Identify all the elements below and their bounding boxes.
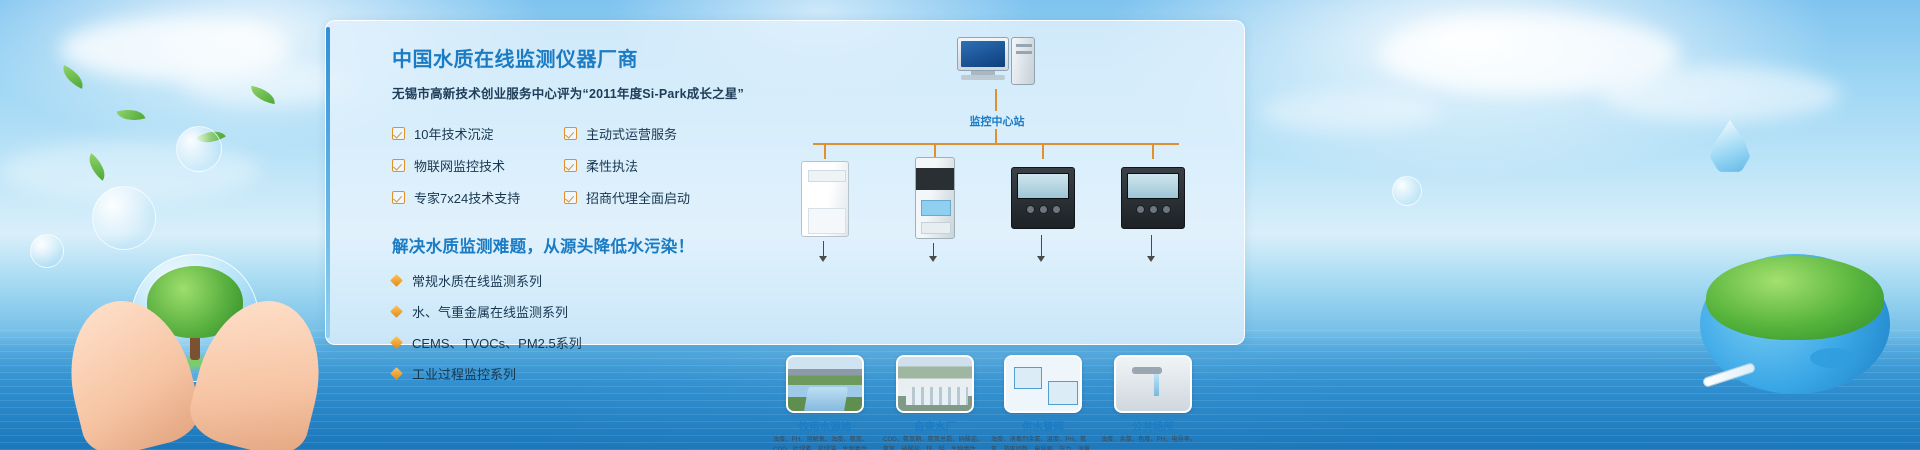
water-droplet-icon xyxy=(1710,120,1750,174)
checkbox-icon xyxy=(564,191,577,204)
leaf-icon xyxy=(117,105,146,125)
node-title: 供水管网 xyxy=(989,419,1097,434)
controller-device-icon xyxy=(1011,167,1075,229)
node-title: 自来水厂 xyxy=(881,419,989,434)
connector-line xyxy=(995,89,997,111)
hero-text-column: 中国水质在线监测仪器厂商 无锡市高新技术创业服务中心评为“2011年度Si-Pa… xyxy=(392,43,782,383)
feature-label: 招商代理全面启动 xyxy=(586,188,690,207)
arrow-icon xyxy=(929,256,937,262)
device-keypad xyxy=(1017,205,1069,214)
node-description: 浊度、余氯、色度、PH、电导率。 xyxy=(1101,435,1205,445)
feature-item: 物联网监控技术 xyxy=(392,156,564,175)
connector-line xyxy=(824,143,826,159)
checkbox-icon xyxy=(564,127,577,140)
list-item[interactable]: 常规水质在线监测系列 xyxy=(392,271,782,290)
earth-land xyxy=(1706,256,1884,340)
page-subtitle: 无锡市高新技术创业服务中心评为“2011年度Si-Park成长之星” xyxy=(392,83,782,102)
device-key xyxy=(1136,205,1145,214)
feature-item: 柔性执法 xyxy=(564,156,782,175)
arrow-line xyxy=(1041,235,1043,257)
bubble xyxy=(1392,176,1422,206)
feature-label: 专家7x24技术支持 xyxy=(414,188,520,207)
monitoring-topology-diagram: 监控中心站 饮用水源地 浊度、PH、溶解氧、浊度、氨氮、COD、叶绿素、蓝绿藻、… xyxy=(771,31,1231,343)
monitor-icon xyxy=(957,37,1009,71)
list-item[interactable]: 工业过程监控系列 xyxy=(392,364,782,383)
feature-item: 主动式运营服务 xyxy=(564,124,782,143)
feature-item: 10年技术沉淀 xyxy=(392,124,564,143)
feature-list: 10年技术沉淀 主动式运营服务 物联网监控技术 柔性执法 专家7x24技术支持 … xyxy=(392,124,782,207)
feature-label: 10年技术沉淀 xyxy=(414,124,493,143)
scene-thumbnail-waterworks xyxy=(896,355,974,413)
control-center-computer-icon xyxy=(957,37,1035,85)
list-item[interactable]: 水、气重金属在线监测系列 xyxy=(392,302,782,321)
feature-label: 主动式运营服务 xyxy=(586,124,677,143)
cabinet-window xyxy=(921,200,951,216)
checkbox-icon xyxy=(392,191,405,204)
scene-thumbnail-river xyxy=(786,355,864,413)
controller-device-icon xyxy=(1121,167,1185,229)
analyzer-cabinet-icon xyxy=(915,157,955,239)
page-title: 中国水质在线监测仪器厂商 xyxy=(392,43,782,72)
node-title: 公共场所 xyxy=(1099,419,1207,434)
node-description: 浊度、消毒剂余氯、温度、PH、氨氮、游离团数、电导率、压力、流量等。 xyxy=(991,435,1095,450)
content-panel: 中国水质在线监测仪器厂商 无锡市高新技术创业服务中心评为“2011年度Si-Pa… xyxy=(325,20,1245,345)
arrow-icon xyxy=(1147,256,1155,262)
list-item[interactable]: CEMS、TVOCs、PM2.5系列 xyxy=(392,333,782,352)
leaf-icon xyxy=(58,65,87,89)
scene-thumbnail-pipeline xyxy=(1004,355,1082,413)
device-key xyxy=(1052,205,1061,214)
device-lcd-screen xyxy=(1017,173,1069,199)
cabinet-drawer xyxy=(921,222,951,234)
node-title: 饮用水源地 xyxy=(771,419,879,434)
checkbox-icon xyxy=(392,127,405,140)
cabinet-panel xyxy=(916,168,954,190)
diamond-bullet-icon xyxy=(390,367,403,380)
hands-holding-tree-illustration xyxy=(70,250,320,450)
eco-earth-illustration xyxy=(1700,254,1890,394)
monitor-screen xyxy=(961,41,1005,67)
section-title: 解决水质监测难题，从源头降低水污染！ xyxy=(392,233,782,257)
device-lcd-screen xyxy=(1127,173,1179,199)
device-key xyxy=(1039,205,1048,214)
node-description: COD、氨氮期、氨氮总数、硝酸盐、氨氮、硝酸盐、钚、锰、生物毒性等。 xyxy=(883,435,987,450)
bubble xyxy=(92,186,156,250)
connector-line xyxy=(995,129,997,143)
arrow-line xyxy=(933,243,935,257)
arrow-line xyxy=(823,241,825,257)
checkbox-icon xyxy=(392,159,405,172)
device-key xyxy=(1149,205,1158,214)
panel-accent-bar xyxy=(326,27,330,338)
feature-item: 招商代理全面启动 xyxy=(564,188,782,207)
diamond-bullet-icon xyxy=(390,305,403,318)
cloud xyxy=(1260,92,1440,132)
list-item-label: CEMS、TVOCs、PM2.5系列 xyxy=(412,333,582,352)
list-item-label: 常规水质在线监测系列 xyxy=(412,271,542,290)
node-description: 浊度、PH、溶解氧、浊度、氨氮、COD、叶绿素、蓝绿藻、生物毒性等。 xyxy=(773,435,877,450)
device-row: 饮用水源地 浊度、PH、溶解氧、浊度、氨氮、COD、叶绿素、蓝绿藻、生物毒性等。… xyxy=(771,143,1231,243)
earth-lake xyxy=(1810,348,1856,368)
feature-label: 物联网监控技术 xyxy=(414,156,505,175)
arrow-icon xyxy=(1037,256,1045,262)
cloud xyxy=(1600,66,1840,122)
pc-tower-icon xyxy=(1011,37,1035,85)
list-item-label: 工业过程监控系列 xyxy=(412,364,516,383)
product-series-list: 常规水质在线监测系列 水、气重金属在线监测系列 CEMS、TVOCs、PM2.5… xyxy=(392,271,782,383)
arrow-icon xyxy=(819,256,827,262)
arrow-line xyxy=(1151,235,1153,257)
feature-label: 柔性执法 xyxy=(586,156,638,175)
device-key xyxy=(1026,205,1035,214)
analyzer-cabinet-icon xyxy=(801,161,849,237)
connector-line xyxy=(1042,143,1044,159)
monitor-base xyxy=(961,75,1005,80)
list-item-label: 水、气重金属在线监测系列 xyxy=(412,302,568,321)
diamond-bullet-icon xyxy=(390,274,403,287)
checkbox-icon xyxy=(564,159,577,172)
bubble xyxy=(176,126,222,172)
device-keypad xyxy=(1127,205,1179,214)
feature-item: 专家7x24技术支持 xyxy=(392,188,564,207)
scene-thumbnail-tap xyxy=(1114,355,1192,413)
device-key xyxy=(1162,205,1171,214)
bubble xyxy=(30,234,64,268)
diamond-bullet-icon xyxy=(390,336,403,349)
control-center-label: 监控中心站 xyxy=(947,113,1047,129)
connector-line xyxy=(1152,143,1154,159)
